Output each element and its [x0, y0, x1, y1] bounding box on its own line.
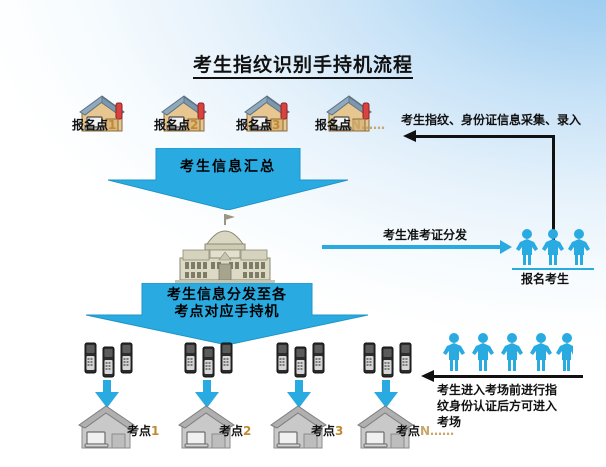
distribute-arrow-label: 考生信息分发至各 考点对应手持机 — [86, 287, 368, 321]
handheld-scanner-icon — [184, 342, 197, 374]
handheld-scanner-icon — [102, 346, 115, 378]
collect-arrow-left-head-icon — [403, 130, 416, 142]
exam-site-group-n — [355, 338, 435, 458]
registration-point-label-3: 报名点3 — [236, 118, 280, 133]
exam-entry-verify-note-line1: 考生进入考场前进行指 — [437, 382, 557, 398]
handheld-scanner-icon — [363, 342, 376, 374]
handheld-scanner-icon — [294, 346, 307, 378]
registration-point-label-1: 报名点1 — [72, 118, 116, 133]
exam-site-group-1 — [76, 338, 156, 458]
exam-site-group-2 — [176, 338, 256, 458]
registered-candidates-underline — [512, 268, 594, 270]
government-building-icon — [175, 212, 275, 284]
handheld-scanner-icon — [399, 342, 412, 374]
summary-arrow-label: 考生信息汇总 — [108, 156, 348, 176]
handheld-scanner-icon — [202, 346, 215, 378]
exam-site-label-3: 考点3 — [311, 424, 343, 439]
handheld-scanner-icon — [312, 342, 325, 374]
registered-candidates-icon — [514, 228, 592, 272]
collect-arrow-horizontal-segment — [415, 135, 555, 138]
distribute-arrow-block: 考生信息分发至各 考点对应手持机 — [86, 283, 368, 345]
registration-point-label-2: 报名点2 — [154, 118, 198, 133]
page-title-text: 考生指纹识别手持机流程 — [193, 54, 413, 79]
ticket-distribution-note: 考生准考证分发 — [383, 228, 467, 243]
exam-site-label-n: 考点N…… — [396, 424, 454, 439]
registration-point-label-n: 报名点N…… — [315, 118, 385, 133]
exam-site-label-1: 考点1 — [127, 424, 159, 439]
page-title: 考生指纹识别手持机流程 — [0, 50, 606, 77]
verify-arrow-line — [433, 375, 583, 378]
exam-entry-verify-note: 考生进入考场前进行指 纹身份认证后方可进入 考场 — [437, 382, 557, 430]
diagram-canvas: 考生指纹识别手持机流程 报名点1 报名点2 — [0, 0, 606, 467]
ticket-distribution-arrow-head-icon — [500, 240, 512, 254]
handheld-scanner-icon — [276, 342, 289, 374]
handheld-scanner-icon — [84, 342, 97, 374]
exam-site-group-3 — [268, 338, 348, 458]
distribute-arrow-label-line1: 考生信息分发至各 — [86, 287, 368, 304]
exam-entry-candidates-icon — [443, 332, 573, 378]
ticket-distribution-arrow-line — [322, 245, 502, 249]
exam-entry-verify-note-line2: 纹身份认证后方可进入 — [437, 398, 557, 414]
distribute-arrow-label-line2: 考点对应手持机 — [86, 304, 368, 321]
handheld-scanner-icon — [220, 342, 233, 374]
summary-arrow-block: 考生信息汇总 — [108, 148, 348, 210]
collect-info-note: 考生指纹、身份证信息采集、录入 — [401, 113, 581, 128]
registered-candidates-label: 报名考生 — [521, 272, 569, 287]
exam-entry-verify-note-line3: 考场 — [437, 414, 557, 430]
handheld-scanner-icon — [120, 342, 133, 374]
exam-site-label-2: 考点2 — [219, 424, 251, 439]
handheld-scanner-icon — [381, 346, 394, 378]
